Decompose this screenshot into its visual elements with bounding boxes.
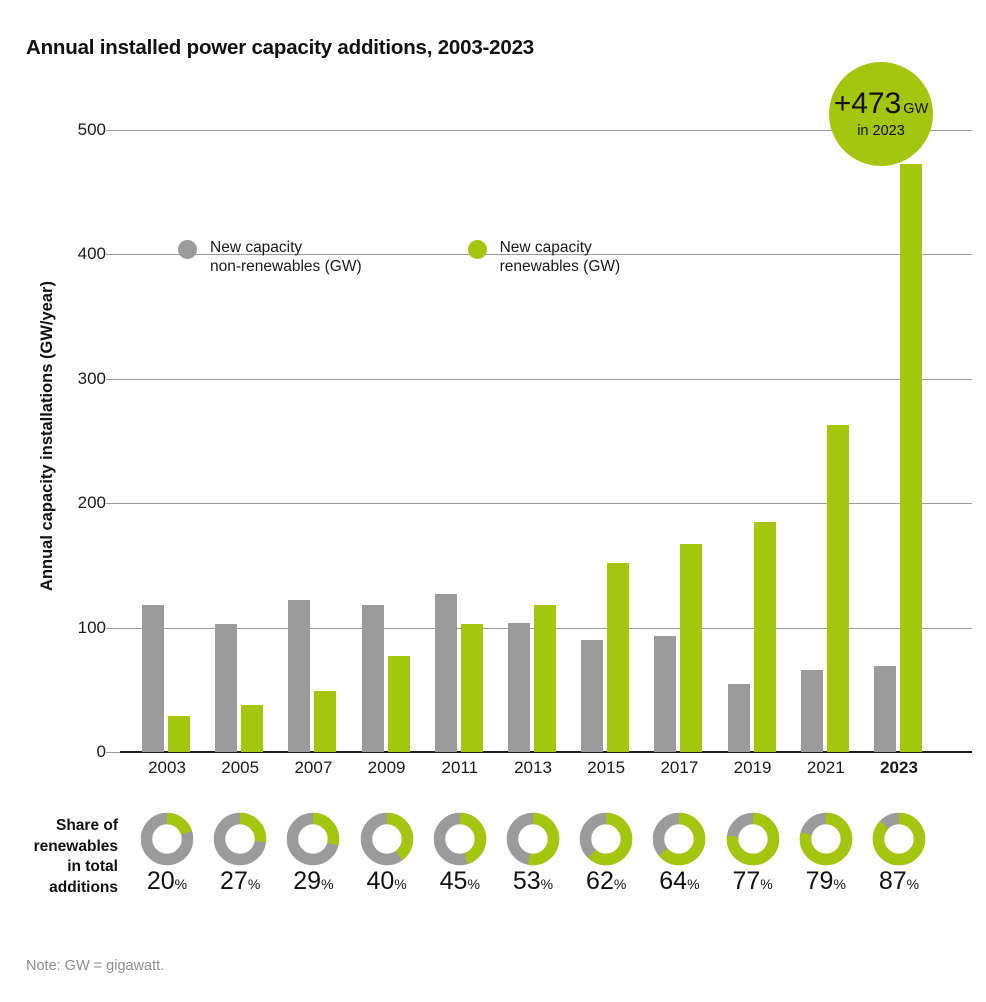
donut-percent-2009: 40% xyxy=(360,869,414,894)
percent-sign: % xyxy=(907,876,919,892)
donut-cell-2011: 45% xyxy=(433,812,487,894)
callout-unit: GW xyxy=(903,102,928,117)
bar-renewables-2019 xyxy=(754,522,776,752)
percent-sign: % xyxy=(541,876,553,892)
bar-group-2007 xyxy=(286,120,340,752)
bar-non-renewables-2019 xyxy=(728,684,750,752)
donut-chart-2019-icon xyxy=(726,812,780,866)
percent-sign: % xyxy=(467,876,479,892)
donut-percent-value: 64 xyxy=(659,867,687,895)
callout-bubble-2023: +473GW in 2023 xyxy=(829,62,933,166)
donut-row: 20%27%29%40%45%53%62%64%77%79%87% xyxy=(120,812,972,916)
donut-chart-2011-icon xyxy=(433,812,487,866)
bar-renewables-2015 xyxy=(607,563,629,752)
bar-group-2023 xyxy=(872,120,926,752)
page-title: Annual installed power capacity addition… xyxy=(26,36,534,60)
donut-chart-2009-icon xyxy=(360,812,414,866)
donut-percent-value: 87 xyxy=(879,867,907,895)
plot-area: 0100200300400500 xyxy=(120,120,972,752)
donut-percent-value: 29 xyxy=(293,867,321,895)
x-tick-label-2019: 2019 xyxy=(726,758,780,778)
donut-cell-2017: 64% xyxy=(652,812,706,894)
donut-percent-value: 53 xyxy=(513,867,541,895)
percent-sign: % xyxy=(760,876,772,892)
donut-percent-2003: 20% xyxy=(140,869,194,894)
bar-renewables-2023 xyxy=(900,164,922,752)
donut-row-label: Share of renewables in total additions xyxy=(6,816,118,898)
donut-percent-value: 40 xyxy=(366,867,394,895)
donut-chart-2021-icon xyxy=(799,812,853,866)
donut-cell-2019: 77% xyxy=(726,812,780,894)
donut-chart-2023-icon xyxy=(872,812,926,866)
legend-label-renewables: New capacity renewables (GW) xyxy=(500,238,621,276)
bar-group-2005 xyxy=(213,120,267,752)
percent-sign: % xyxy=(394,876,406,892)
percent-sign: % xyxy=(687,876,699,892)
x-tick-label-2021: 2021 xyxy=(799,758,853,778)
legend-label-non-renewables: New capacity non-renewables (GW) xyxy=(210,238,362,276)
y-tick-mark-400 xyxy=(106,254,120,255)
donut-percent-value: 45 xyxy=(440,867,468,895)
donut-percent-2015: 62% xyxy=(579,869,633,894)
callout-subtext: in 2023 xyxy=(857,124,905,139)
legend-item-non-renewables: New capacity non-renewables (GW) xyxy=(178,238,362,276)
donut-percent-value: 62 xyxy=(586,867,614,895)
bar-group-2017 xyxy=(652,120,706,752)
callout-value: +473 xyxy=(834,89,902,119)
bar-non-renewables-2023 xyxy=(874,666,896,752)
bar-renewables-2011 xyxy=(461,624,483,752)
donut-percent-2005: 27% xyxy=(213,869,267,894)
donut-percent-2023: 87% xyxy=(872,869,926,894)
donut-percent-2011: 45% xyxy=(433,869,487,894)
bar-group-2013 xyxy=(506,120,560,752)
legend-item-renewables: New capacity renewables (GW) xyxy=(468,238,621,276)
bar-non-renewables-2003 xyxy=(142,605,164,752)
x-tick-label-2023: 2023 xyxy=(872,758,926,778)
bar-non-renewables-2009 xyxy=(362,605,384,752)
y-tick-label-100: 100 xyxy=(78,618,106,638)
bar-group-2021 xyxy=(799,120,853,752)
bar-non-renewables-2013 xyxy=(508,623,530,752)
bar-renewables-2003 xyxy=(168,716,190,752)
donut-cell-2013: 53% xyxy=(506,812,560,894)
bar-group-2009 xyxy=(360,120,414,752)
bar-non-renewables-2011 xyxy=(435,594,457,752)
x-tick-label-2015: 2015 xyxy=(579,758,633,778)
bar-group-2019 xyxy=(726,120,780,752)
bar-renewables-2009 xyxy=(388,656,410,752)
x-tick-label-2011: 2011 xyxy=(433,758,487,778)
x-axis-labels: 2003200520072009201120132015201720192021… xyxy=(120,758,972,786)
y-tick-mark-500 xyxy=(106,130,120,131)
bar-non-renewables-2005 xyxy=(215,624,237,752)
x-tick-label-2003: 2003 xyxy=(140,758,194,778)
bar-non-renewables-2021 xyxy=(801,670,823,752)
y-tick-mark-0 xyxy=(106,752,120,753)
bar-group-2003 xyxy=(140,120,194,752)
percent-sign: % xyxy=(175,876,187,892)
bar-non-renewables-2007 xyxy=(288,600,310,752)
bar-renewables-2021 xyxy=(827,425,849,752)
y-axis-title: Annual capacity installations (GW/year) xyxy=(34,120,60,752)
donut-percent-2019: 77% xyxy=(726,869,780,894)
x-tick-label-2009: 2009 xyxy=(360,758,414,778)
bar-renewables-2005 xyxy=(241,705,263,752)
donut-cell-2003: 20% xyxy=(140,812,194,894)
donut-chart-2003-icon xyxy=(140,812,194,866)
donut-percent-2021: 79% xyxy=(799,869,853,894)
bar-non-renewables-2015 xyxy=(581,640,603,752)
donut-cell-2021: 79% xyxy=(799,812,853,894)
percent-sign: % xyxy=(248,876,260,892)
x-tick-label-2017: 2017 xyxy=(652,758,706,778)
bar-renewables-2013 xyxy=(534,605,556,752)
percent-sign: % xyxy=(833,876,845,892)
donut-cell-2023: 87% xyxy=(872,812,926,894)
percent-sign: % xyxy=(321,876,333,892)
donut-chart-2007-icon xyxy=(286,812,340,866)
x-tick-label-2013: 2013 xyxy=(506,758,560,778)
legend-swatch-renewables-icon xyxy=(468,240,487,259)
donut-percent-2013: 53% xyxy=(506,869,560,894)
y-tick-mark-100 xyxy=(106,628,120,629)
bar-group-2015 xyxy=(579,120,633,752)
donut-chart-2005-icon xyxy=(213,812,267,866)
donut-percent-value: 79 xyxy=(806,867,834,895)
bar-renewables-2007 xyxy=(314,691,336,752)
y-tick-label-200: 200 xyxy=(78,493,106,513)
bar-group-2011 xyxy=(433,120,487,752)
y-tick-label-400: 400 xyxy=(78,244,106,264)
donut-cell-2015: 62% xyxy=(579,812,633,894)
donut-chart-2017-icon xyxy=(652,812,706,866)
donut-chart-2013-icon xyxy=(506,812,560,866)
bar-renewables-2017 xyxy=(680,544,702,752)
percent-sign: % xyxy=(614,876,626,892)
donut-percent-2007: 29% xyxy=(286,869,340,894)
donut-percent-2017: 64% xyxy=(652,869,706,894)
y-tick-label-300: 300 xyxy=(78,369,106,389)
y-tick-label-500: 500 xyxy=(78,120,106,140)
y-tick-label-0: 0 xyxy=(97,742,106,762)
chart-page: { "title": "Annual installed power capac… xyxy=(0,0,986,1002)
legend-swatch-non-renewables-icon xyxy=(178,240,197,259)
bar-non-renewables-2017 xyxy=(654,636,676,752)
y-tick-mark-200 xyxy=(106,503,120,504)
donut-cell-2005: 27% xyxy=(213,812,267,894)
donut-cell-2007: 29% xyxy=(286,812,340,894)
y-tick-mark-300 xyxy=(106,379,120,380)
donut-chart-2015-icon xyxy=(579,812,633,866)
x-tick-label-2005: 2005 xyxy=(213,758,267,778)
donut-percent-value: 77 xyxy=(732,867,760,895)
donut-cell-2009: 40% xyxy=(360,812,414,894)
callout-value-row: +473GW xyxy=(834,89,929,119)
footnote: Note: GW = gigawatt. xyxy=(26,958,164,974)
donut-percent-value: 27 xyxy=(220,867,248,895)
x-tick-label-2007: 2007 xyxy=(286,758,340,778)
chart-legend: New capacity non-renewables (GW)New capa… xyxy=(178,238,620,276)
donut-percent-value: 20 xyxy=(147,867,175,895)
